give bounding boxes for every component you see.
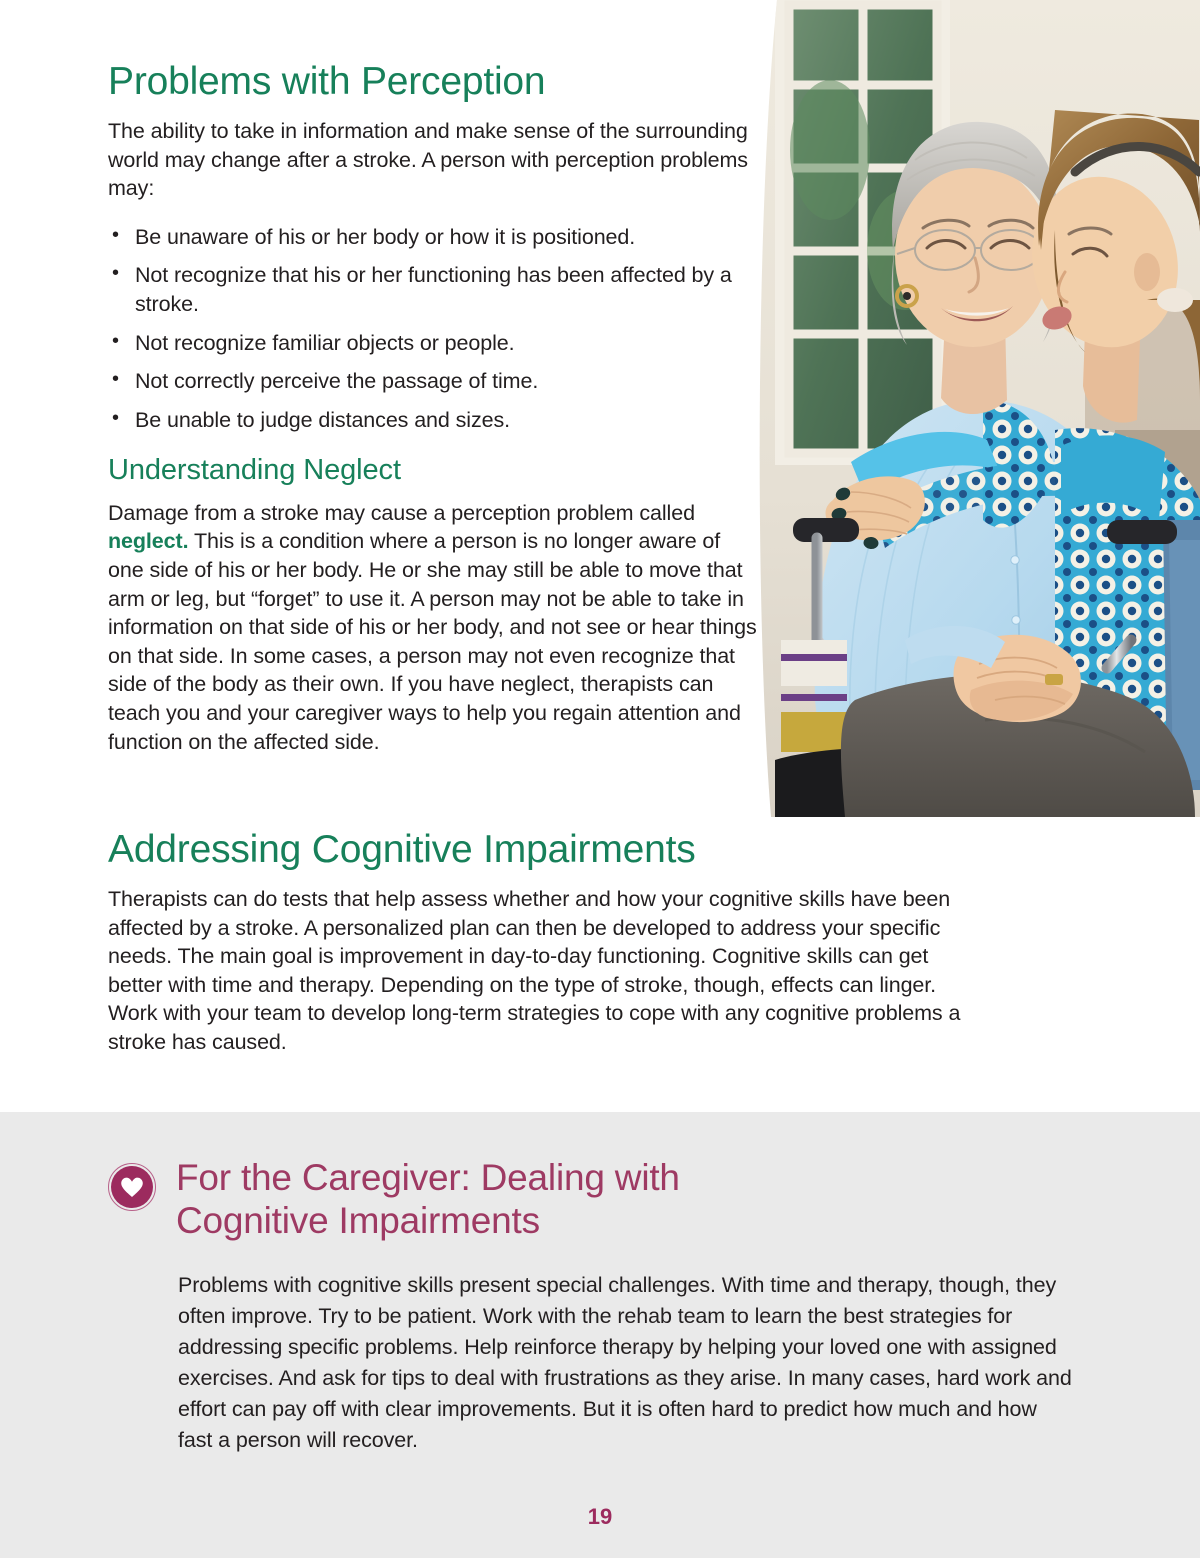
caregiver-heading-row: For the Caregiver: Dealing with Cognitiv… <box>108 1157 808 1243</box>
neglect-paragraph: Damage from a stroke may cause a percept… <box>108 499 758 756</box>
list-item: Not correctly perceive the passage of ti… <box>108 367 758 396</box>
heart-icon <box>108 1163 156 1211</box>
addressing-paragraph: Therapists can do tests that help assess… <box>108 885 988 1057</box>
addressing-section: Addressing Cognitive Impairments Therapi… <box>108 830 988 1057</box>
caregiver-heading: For the Caregiver: Dealing with Cognitiv… <box>176 1157 808 1243</box>
neglect-text-before: Damage from a stroke may cause a percept… <box>108 501 695 525</box>
neglect-text-after: This is a condition where a person is no… <box>108 529 757 753</box>
heart-glyph <box>120 1176 144 1198</box>
page-number: 19 <box>0 1504 1200 1530</box>
document-page: Problems with Perception The ability to … <box>0 0 1200 1558</box>
list-item: Be unaware of his or her body or how it … <box>108 223 758 252</box>
caregiver-paragraph: Problems with cognitive skills present s… <box>178 1270 1076 1456</box>
list-item: Be unable to judge distances and sizes. <box>108 406 758 435</box>
perception-bullet-list: Be unaware of his or her body or how it … <box>108 223 758 435</box>
perception-intro: The ability to take in information and m… <box>108 117 758 203</box>
caregiver-photo <box>755 0 1200 817</box>
list-item: Not recognize that his or her functionin… <box>108 261 758 318</box>
neglect-keyword: neglect. <box>108 529 188 553</box>
photo-illustration <box>755 0 1200 817</box>
caregiver-callout: For the Caregiver: Dealing with Cognitiv… <box>0 1112 1200 1558</box>
perception-section: Problems with Perception The ability to … <box>108 62 758 444</box>
neglect-section: Understanding Neglect Damage from a stro… <box>108 455 758 756</box>
neglect-heading: Understanding Neglect <box>108 455 758 487</box>
addressing-heading: Addressing Cognitive Impairments <box>108 830 988 871</box>
page-title: Problems with Perception <box>108 62 758 103</box>
list-item: Not recognize familiar objects or people… <box>108 329 758 358</box>
